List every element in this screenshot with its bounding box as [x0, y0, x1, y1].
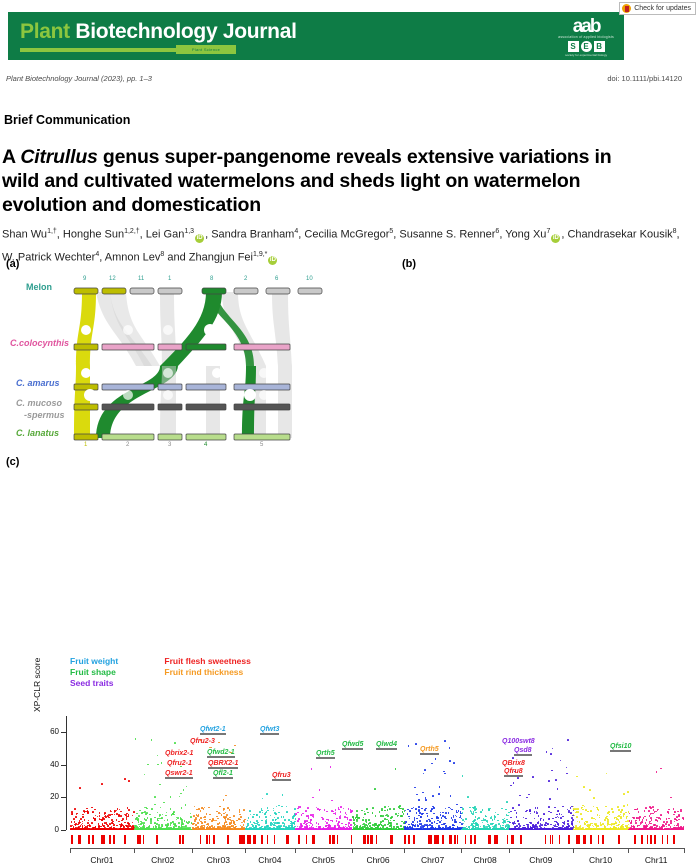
xpclr-point — [416, 794, 418, 796]
xpclr-point — [619, 821, 621, 823]
xpclr-point — [384, 806, 386, 808]
xpclr-point — [170, 824, 172, 826]
xpclr-point — [655, 819, 657, 821]
qtl-marker — [404, 835, 406, 844]
xpclr-point — [395, 813, 397, 815]
xpclr-point — [398, 813, 400, 815]
xpclr-point — [560, 760, 562, 762]
xpclr-point — [361, 810, 363, 812]
xpclr-point — [353, 819, 355, 821]
xpclr-point — [605, 806, 607, 808]
xpclr-point — [282, 794, 284, 796]
qtl-marker — [497, 835, 499, 844]
xpclr-point — [138, 815, 140, 817]
xpclr-point — [84, 819, 86, 821]
panel-c-y-tick-label: 0 — [43, 825, 59, 834]
xpclr-point — [229, 828, 231, 830]
chromosome-label: Chr10 — [573, 855, 629, 865]
xpclr-point — [656, 817, 658, 819]
xpclr-point — [276, 806, 278, 808]
xpclr-point — [528, 828, 530, 830]
xpclr-point — [577, 811, 579, 813]
xpclr-point — [266, 811, 268, 813]
xpclr-point — [375, 815, 377, 817]
chromosome-tick — [509, 848, 510, 853]
xpclr-point — [99, 815, 101, 817]
xpclr-point — [102, 828, 104, 830]
xpclr-point — [174, 742, 176, 744]
qtl-marker — [124, 835, 126, 844]
xpclr-point — [660, 814, 662, 816]
xpclr-point — [562, 816, 564, 818]
aab-logo-subtitle: association of applied biologists — [558, 35, 614, 39]
xpclr-point — [671, 828, 673, 830]
xpclr-point — [555, 779, 557, 781]
xpclr-point — [86, 808, 88, 810]
xpclr-point — [418, 799, 420, 801]
xpclr-point — [382, 815, 384, 817]
xpclr-point — [599, 817, 601, 819]
xpclr-point — [329, 825, 331, 827]
xpclr-point — [87, 826, 89, 828]
xpclr-point — [424, 809, 426, 811]
xpclr-point — [638, 811, 640, 813]
qtl-marker — [559, 835, 561, 844]
xpclr-point — [540, 819, 542, 821]
author-name[interactable]: Sandra Branham — [211, 229, 294, 241]
xpclr-point — [238, 818, 240, 820]
xpclr-point — [280, 828, 282, 830]
qtl-label: Qrth5 — [316, 750, 335, 757]
species-label-amarus: C. amarus — [16, 378, 60, 388]
xpclr-point — [570, 807, 572, 809]
xpclr-point — [555, 817, 557, 819]
xpclr-point — [223, 810, 225, 812]
xpclr-point — [94, 819, 96, 821]
xpclr-point — [518, 804, 520, 806]
xpclr-point — [391, 816, 393, 818]
xpclr-point — [656, 825, 658, 827]
xpclr-point — [157, 764, 159, 766]
xpclr-point — [140, 823, 142, 825]
qtl-marker — [552, 835, 554, 844]
xpclr-point — [469, 807, 471, 809]
qtl-marker — [647, 835, 649, 844]
chromosome-tick — [70, 848, 71, 853]
chromosome-label: Chr01 — [70, 855, 134, 865]
xpclr-point — [92, 811, 94, 813]
xpclr-point — [683, 818, 684, 820]
qtl-marker — [654, 835, 656, 844]
qtl-marker — [545, 835, 547, 844]
xpclr-point — [198, 808, 200, 810]
xpclr-point — [208, 828, 210, 830]
xpclr-point — [190, 816, 192, 818]
xpclr-point — [198, 814, 200, 816]
xpclr-point — [313, 817, 315, 819]
xpclr-point — [246, 828, 248, 830]
xpclr-point — [479, 828, 481, 830]
orcid-icon[interactable]: iD — [195, 234, 204, 243]
xpclr-point — [147, 764, 149, 766]
xpclr-point — [407, 814, 409, 816]
xpclr-point — [620, 828, 622, 830]
xpclr-point — [606, 828, 608, 830]
xpclr-point — [135, 828, 137, 830]
xpclr-point — [318, 823, 320, 825]
xpclr-point — [571, 817, 573, 819]
xpclr-point — [204, 821, 206, 823]
xpclr-point — [154, 804, 156, 806]
xpclr-point — [647, 828, 649, 830]
xpclr-point — [528, 794, 530, 796]
xpclr-point — [274, 817, 276, 819]
xpclr-point — [170, 796, 172, 798]
xpclr-point — [388, 822, 390, 824]
xpclr-point — [474, 809, 476, 811]
xpclr-point — [355, 828, 357, 830]
xpclr-point — [121, 820, 123, 822]
qtl-marker — [390, 835, 392, 844]
chromosome-label: Chr05 — [295, 855, 353, 865]
xpclr-point — [161, 762, 163, 764]
xpclr-point — [405, 810, 407, 812]
xpclr-point — [266, 793, 268, 795]
xpclr-point — [438, 793, 440, 795]
xpclr-point — [162, 814, 164, 816]
xpclr-point — [278, 812, 280, 814]
xpclr-point — [652, 806, 654, 808]
doi-text[interactable]: doi: 10.1111/pbi.14120 — [607, 74, 682, 83]
xpclr-point — [590, 810, 592, 812]
xpclr-point — [663, 821, 665, 823]
xpclr-point — [636, 817, 638, 819]
xpclr-point — [109, 814, 111, 816]
xpclr-point — [643, 828, 645, 830]
xpclr-point — [418, 806, 420, 808]
xpclr-point — [181, 828, 183, 830]
xpclr-point — [606, 773, 608, 775]
qtl-marker — [618, 835, 620, 844]
xpclr-point — [638, 825, 640, 827]
xpclr-point — [297, 812, 299, 814]
xpclr-point — [448, 812, 450, 814]
panel-b-upset-plot: Number of orthologous groups 28 607 (n =… — [400, 256, 700, 456]
xpclr-point — [510, 817, 512, 819]
xpclr-point — [197, 822, 199, 824]
xpclr-point — [80, 818, 82, 820]
xpclr-point — [181, 807, 183, 809]
xpclr-point — [243, 809, 245, 811]
xpclr-point — [124, 822, 126, 824]
xpclr-point — [150, 822, 152, 824]
chromosome-label: Chr03 — [192, 855, 246, 865]
qtl-marker — [313, 835, 315, 844]
xpclr-point — [435, 758, 437, 760]
xpclr-point — [683, 828, 684, 830]
xpclr-point — [330, 766, 332, 768]
qtl-marker — [143, 835, 145, 844]
xpclr-point — [448, 828, 450, 830]
check-for-updates-badge[interactable]: Check for updates — [619, 2, 696, 15]
xpclr-point — [492, 819, 494, 821]
author-name[interactable]: Shan Wu — [2, 229, 47, 241]
xpclr-point — [165, 825, 167, 827]
xpclr-point — [427, 828, 429, 830]
xpclr-point — [73, 818, 75, 820]
xpclr-point — [639, 819, 641, 821]
xpclr-point — [557, 810, 559, 812]
qtl-marker — [213, 835, 215, 844]
xpclr-point — [311, 768, 313, 770]
xpclr-point — [486, 820, 488, 822]
xpclr-point — [444, 740, 446, 742]
seb-letter-s: S — [568, 41, 579, 52]
xpclr-point — [652, 828, 654, 830]
xpclr-point — [425, 797, 427, 799]
xpclr-point — [642, 819, 644, 821]
xpclr-point — [537, 822, 539, 824]
xpclr-point — [456, 816, 458, 818]
xpclr-point — [103, 818, 105, 820]
qtl-marker — [227, 835, 229, 844]
xpclr-point — [452, 819, 454, 821]
species-label-lanatus: C. lanatus — [16, 428, 59, 438]
xpclr-point — [623, 815, 625, 817]
qtl-label: Qrth5 — [420, 746, 439, 753]
xpclr-point — [541, 828, 543, 830]
journal-title-word2: Biotechnology Journal — [75, 20, 296, 43]
xpclr-point — [170, 808, 172, 810]
xpclr-point — [485, 828, 487, 830]
xpclr-point — [262, 798, 264, 800]
qtl-marker — [376, 835, 378, 844]
xpclr-point — [379, 828, 381, 830]
xpclr-point — [656, 771, 658, 773]
xpclr-point — [170, 822, 172, 824]
xpclr-point — [325, 825, 327, 827]
panel-c-scatter-area — [70, 716, 684, 830]
xpclr-point — [527, 825, 529, 827]
xpclr-point — [159, 784, 161, 786]
xpclr-point — [513, 823, 515, 825]
panel-c-y-axis — [66, 716, 67, 830]
chromosome-label: Chr02 — [134, 855, 192, 865]
author-name[interactable]: Chandrasekar Kousik — [567, 229, 672, 241]
xpclr-point — [221, 814, 223, 816]
species-label-mucosospermus: C. mucoso — [16, 398, 62, 408]
author-name[interactable]: Cecilia McGregor — [304, 229, 389, 241]
xpclr-point — [590, 828, 592, 830]
xpclr-point — [307, 807, 309, 809]
xpclr-point — [288, 819, 290, 821]
xpclr-point — [645, 807, 647, 809]
xpclr-point — [623, 805, 625, 807]
panel-c-y-tick-label: 20 — [43, 792, 59, 801]
xpclr-point — [430, 810, 432, 812]
qtl-marker — [602, 835, 604, 844]
xpclr-point — [501, 808, 503, 810]
xpclr-point — [247, 823, 249, 825]
xpclr-point — [509, 822, 511, 824]
chromosome-tick — [192, 848, 193, 853]
xpclr-point — [116, 819, 118, 821]
chromosome-tick — [628, 848, 629, 853]
xpclr-point — [346, 814, 348, 816]
panel-a-synteny-plot: Melon C.colocynthis C. amarus C. mucoso … — [4, 256, 334, 451]
xpclr-point — [576, 816, 578, 818]
xpclr-point — [453, 762, 455, 764]
xpclr-point — [295, 813, 297, 815]
xpclr-point — [286, 806, 288, 808]
author-name[interactable]: Yong Xu — [505, 229, 546, 241]
author-name[interactable]: Lei Gan — [146, 229, 185, 241]
qtl-marker — [367, 835, 369, 844]
xpclr-point — [139, 810, 141, 812]
xpclr-point — [497, 814, 499, 816]
qtl-label: Qfru2-3 — [190, 738, 215, 745]
xpclr-point — [590, 823, 592, 825]
xpclr-point — [666, 828, 668, 830]
xpclr-point — [598, 809, 600, 811]
qtl-marker — [474, 835, 476, 844]
xpclr-point — [678, 819, 680, 821]
xpclr-point — [400, 825, 402, 827]
xpclr-point — [604, 819, 606, 821]
xpclr-point — [670, 820, 672, 822]
xpclr-point — [659, 828, 661, 830]
qtl-marker — [585, 835, 587, 844]
xpclr-point — [364, 813, 366, 815]
xpclr-point — [217, 818, 219, 820]
qtl-marker — [209, 835, 211, 844]
qtl-marker — [253, 835, 255, 844]
xpclr-point — [580, 813, 582, 815]
xpclr-point — [278, 822, 280, 824]
xpclr-point — [177, 817, 179, 819]
xpclr-point — [665, 823, 667, 825]
xpclr-point — [223, 799, 225, 801]
qtl-marker — [578, 835, 580, 844]
xpclr-point — [374, 788, 376, 790]
qtl-marker — [391, 835, 393, 844]
xpclr-point — [683, 827, 684, 829]
xpclr-point — [414, 819, 416, 821]
xpclr-point — [611, 825, 613, 827]
xpclr-point — [302, 813, 304, 815]
xpclr-point — [256, 820, 258, 822]
xpclr-point — [167, 819, 169, 821]
qtl-marker — [662, 835, 664, 844]
xpclr-point — [483, 819, 485, 821]
xpclr-point — [273, 808, 275, 810]
xpclr-point — [318, 828, 320, 830]
xpclr-point — [668, 809, 670, 811]
xpclr-point — [344, 816, 346, 818]
author-name[interactable]: Susanne S. Renner — [399, 229, 495, 241]
orcid-icon[interactable]: iD — [551, 234, 560, 243]
xpclr-point — [586, 821, 588, 823]
panel-c-y-tick — [61, 830, 66, 831]
xpclr-point — [436, 823, 438, 825]
xpclr-point — [674, 811, 676, 813]
xpclr-point — [272, 823, 274, 825]
xpclr-point — [628, 824, 630, 826]
xpclr-point — [471, 823, 473, 825]
xpclr-point — [426, 813, 428, 815]
xpclr-point — [431, 822, 433, 824]
xpclr-point — [426, 820, 428, 822]
xpclr-point — [109, 823, 111, 825]
xpclr-point — [158, 824, 160, 826]
journal-masthead: Plant Biotechnology Journal Plant Scienc… — [8, 12, 624, 60]
author-name[interactable]: Honghe Sun — [63, 229, 124, 241]
xpclr-point — [219, 822, 221, 824]
xpclr-point — [318, 826, 320, 828]
xpclr-point — [395, 768, 397, 770]
xpclr-point — [440, 814, 442, 816]
xpclr-point — [338, 826, 340, 828]
author-affiliation-marker: 1,3 — [184, 228, 194, 235]
xpclr-point — [384, 810, 386, 812]
qtl-marker — [92, 835, 94, 844]
xpclr-point — [154, 796, 156, 798]
xpclr-point — [284, 819, 286, 821]
xpclr-point — [185, 804, 187, 806]
xpclr-point — [95, 828, 97, 830]
xpclr-point — [374, 828, 376, 830]
xpclr-point — [91, 807, 93, 809]
xpclr-point — [116, 825, 118, 827]
xpclr-point — [180, 817, 182, 819]
xpclr-point — [597, 825, 599, 827]
pdf-update-icon — [622, 4, 631, 13]
xpclr-point — [593, 797, 595, 799]
xpclr-point — [454, 822, 456, 824]
qtl-marker — [332, 835, 334, 844]
xpclr-point — [431, 808, 433, 810]
xpclr-point — [526, 810, 528, 812]
synteny-canvas: Melon C.colocynthis C. amarus C. mucoso … — [10, 270, 334, 448]
seb-logo: S E B — [558, 41, 614, 52]
qtl-marker — [109, 835, 111, 844]
xpclr-point — [145, 819, 147, 821]
xpclr-point — [157, 755, 159, 757]
xpclr-point — [308, 828, 310, 830]
xpclr-point — [256, 814, 258, 816]
qtl-label: Qfwt3 — [260, 726, 279, 733]
xpclr-point — [419, 812, 421, 814]
xpclr-point — [660, 818, 662, 820]
xpclr-point — [564, 824, 566, 826]
qtl-marker — [470, 835, 472, 844]
xpclr-point — [444, 773, 446, 775]
xpclr-point — [655, 811, 657, 813]
qtl-marker — [206, 835, 208, 844]
species-label-colocynthis: C.colocynthis — [10, 338, 69, 348]
qtl-marker — [520, 835, 522, 844]
xpclr-point — [510, 785, 512, 787]
xpclr-point — [654, 811, 656, 813]
xpclr-point — [188, 821, 190, 823]
xpclr-point — [502, 825, 504, 827]
xpclr-point — [644, 816, 646, 818]
qtl-marker — [337, 835, 339, 844]
xpclr-point — [267, 810, 269, 812]
xpclr-point — [566, 767, 568, 769]
xpclr-point — [163, 828, 165, 830]
xpclr-point — [557, 788, 559, 790]
